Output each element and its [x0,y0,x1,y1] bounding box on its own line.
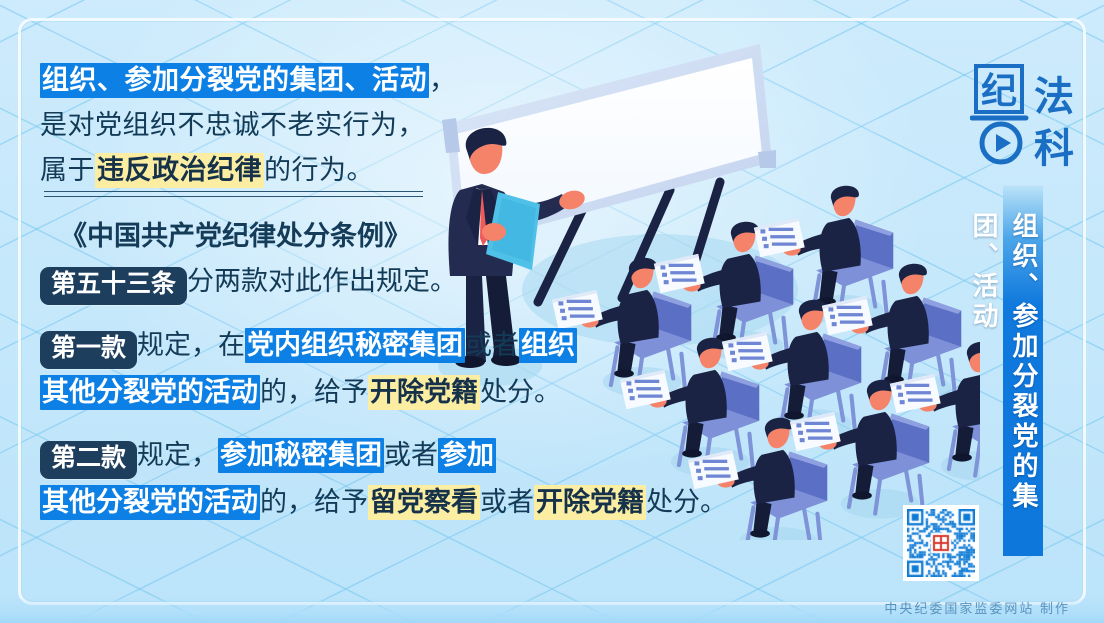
clause-2-t5: 处分。 [646,487,727,517]
main-text-block: 组织、参加分裂党的集团、活动， 是对党组织不忠诚不老实行为， 属于违反政治纪律的… [40,58,740,529]
clause-2-pill: 第二款 [40,441,137,479]
qr-code[interactable] [903,505,979,581]
clause-1-t1: 规定，在 [137,330,245,360]
clause-1-hl-1: 党内组织秘密集团 [245,328,465,363]
logo-char-ke: 科 [1034,127,1074,171]
clause-2-hl-1: 参加秘密集团 [218,438,384,473]
definition-comma: ， [429,65,457,95]
play-triangle-icon [996,134,1011,152]
violation-highlight: 违反政治纪律 [95,153,264,188]
clause-2-line-1: 第二款规定，参加秘密集团或者参加 [40,432,740,479]
paragraph-clause-1: 第一款规定，在党内组织秘密集团或者组织 其他分裂党的活动的，给予开除党籍处分。 [40,322,740,415]
clause-2-penalty-1: 留党察看 [368,485,480,520]
clause-1-t2: 或者 [465,330,519,360]
clause-1-t4: 处分。 [480,377,561,407]
clause-1-line-2: 其他分裂党的活动的，给予开除党籍处分。 [40,369,740,415]
brand-logo-jifa-baike[interactable]: 纪 法 科 [970,62,1088,172]
logo-char-ji: 纪 [981,71,1017,111]
clause-1-hl-3: 其他分裂党的活动 [40,375,260,410]
clause-2-line-2: 其他分裂党的活动的，给予留党察看或者开除党籍处分。 [40,479,740,525]
clause-53-line: 第五十三条分两款对此作出规定。 [40,258,740,305]
clause-2-t2: 或者 [384,440,438,470]
paragraph-clause-2: 第二款规定，参加秘密集团或者参加 其他分裂党的活动的，给予留党察看或者开除党籍处… [40,432,740,525]
vertical-title-banner: 组织、参加分裂党的集团、活动 [1003,186,1043,556]
paragraph-regulation: 《中国共产党纪律处分条例》 第五十三条分两款对此作出规定。 [40,214,740,305]
clause-2-hl-2: 参加 [438,438,496,473]
clause-2-penalty-2: 开除党籍 [534,485,646,520]
definition-line3-prefix: 属于 [40,155,95,185]
clause-53-rest: 分两款对此作出规定。 [187,266,457,296]
definition-line3-suffix: 的行为。 [264,155,374,185]
clause-1-t3: 的，给予 [260,377,368,407]
clause-1-line-1: 第一款规定，在党内组织秘密集团或者组织 [40,322,740,369]
clause-53-pill: 第五十三条 [40,267,187,305]
clause-1-hl-2: 组织 [519,328,577,363]
paragraph-definition: 组织、参加分裂党的集团、活动， 是对党组织不忠诚不老实行为， 属于违反政治纪律的… [40,58,457,193]
clause-1-penalty: 开除党籍 [368,375,480,410]
footer-credit: 中央纪委国家监委网站 制作 [884,598,1070,617]
clause-2-t3: 的，给予 [260,487,368,517]
definition-line-1: 组织、参加分裂党的集团、活动， [40,58,457,103]
clause-2-t1: 规定， [137,440,218,470]
clause-2-hl-3: 其他分裂党的活动 [40,485,260,520]
definition-double-underline [44,191,423,197]
clause-2-t4: 或者 [480,487,534,517]
poster-root: 组织、参加分裂党的集团、活动， 是对党组织不忠诚不老实行为， 属于违反政治纪律的… [0,0,1104,623]
regulation-title: 《中国共产党纪律处分条例》 [60,214,740,258]
definition-line-3: 属于违反政治纪律的行为。 [40,148,457,193]
clause-1-pill: 第一款 [40,331,137,369]
definition-subject-highlight: 组织、参加分裂党的集团、活动 [40,63,429,98]
logo-char-fa: 法 [1034,75,1074,119]
definition-line-2: 是对党组织不忠诚不老实行为， [40,103,457,148]
